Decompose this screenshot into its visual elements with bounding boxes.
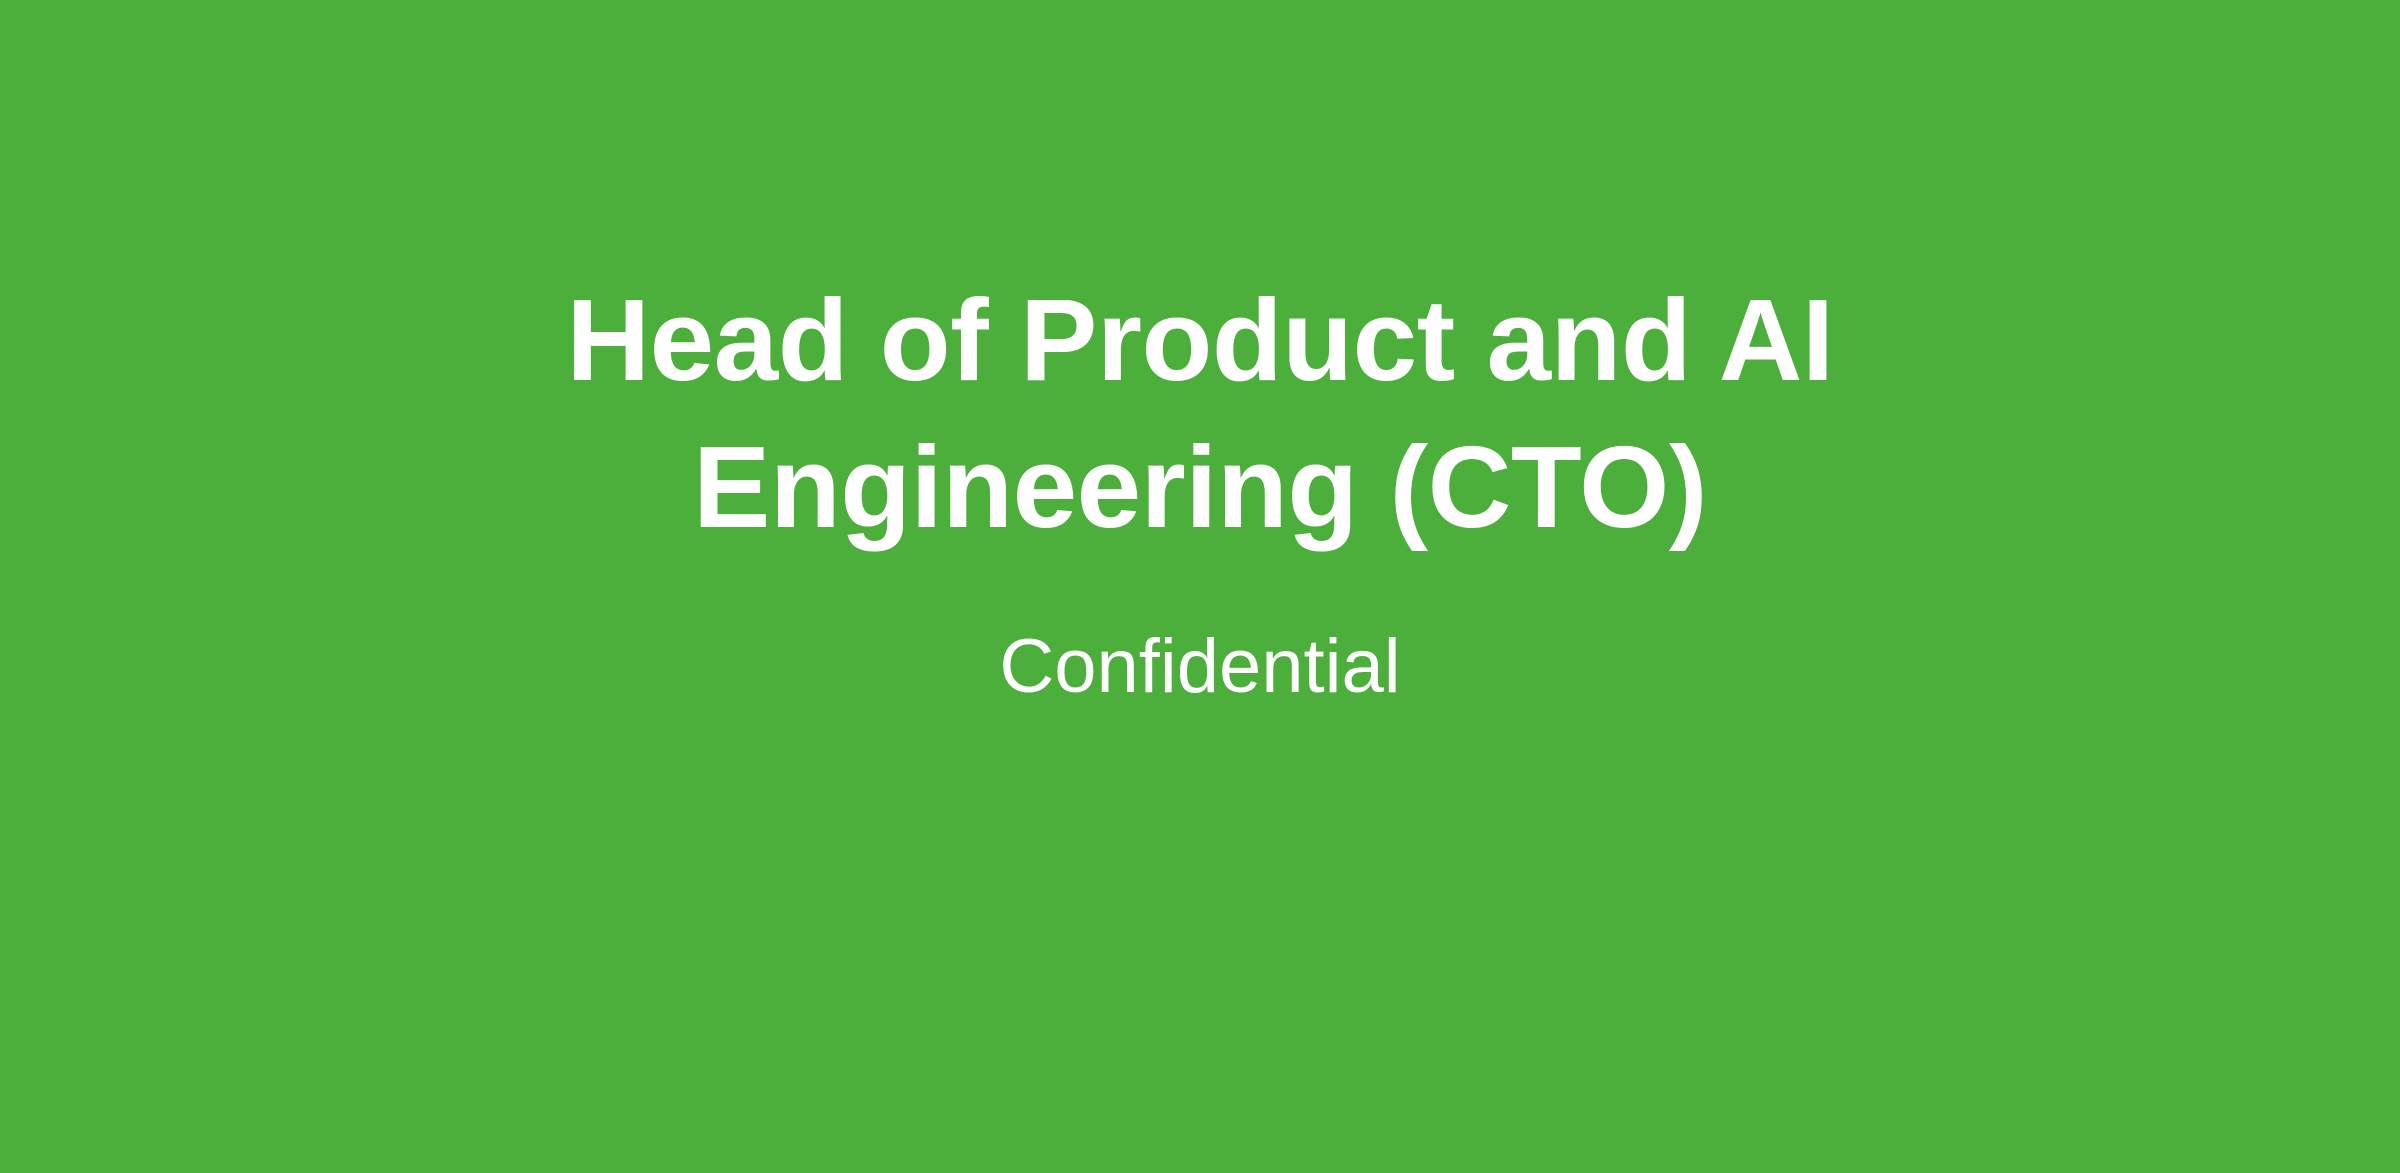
slide-title: Head of Product and AI Engineering (CTO) — [520, 267, 1880, 561]
title-slide: Head of Product and AI Engineering (CTO)… — [0, 0, 2400, 1173]
title-block: Head of Product and AI Engineering (CTO)… — [500, 267, 1900, 711]
slide-subtitle: Confidential — [999, 623, 1400, 711]
